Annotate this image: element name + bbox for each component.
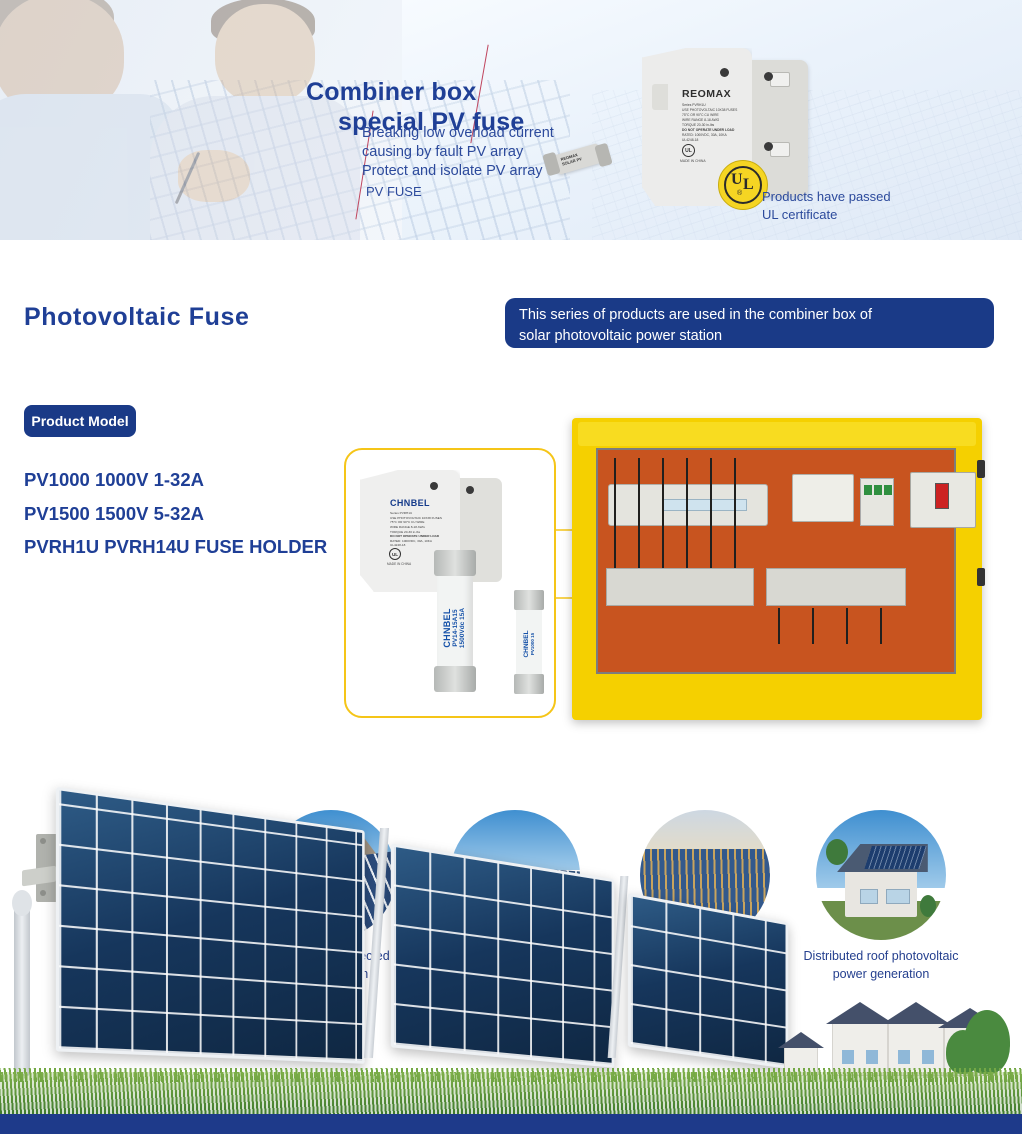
tree — [826, 839, 848, 865]
ul-certificate-badge: U L ® — [718, 160, 768, 210]
holder-origin: MADE IN CHINA — [680, 159, 706, 163]
surge-protector — [860, 478, 894, 526]
box-hinge-top — [977, 460, 985, 478]
caption-rooftop-line-1: Distributed roof photovoltaic — [796, 948, 966, 966]
nh-screw — [40, 890, 46, 896]
wind-turbine-hub — [12, 890, 32, 916]
residential-buildings — [766, 994, 996, 1076]
banner-title-line-1: Combiner box — [306, 78, 476, 106]
holder-standard: UL4248-18 — [682, 137, 748, 142]
fuse-end-cap-top — [434, 550, 476, 576]
fuse-14x51-model: PV14-15A15 — [452, 576, 459, 680]
usage-callout-line-1: This series of products are used in the … — [519, 305, 980, 326]
spd-indicator-2 — [874, 485, 882, 495]
fuse-14x51-label: CHNBEL PV14-15A15 1500Vdc 15A — [442, 576, 466, 680]
sky — [640, 810, 770, 852]
product-model-badge: Product Model — [24, 405, 136, 437]
ul-badge-ring: U L ® — [724, 166, 762, 204]
ul-text-line-2: UL certificate — [762, 206, 891, 224]
window — [866, 1050, 878, 1064]
spd-indicator-1 — [864, 485, 872, 495]
rear-terminal-top — [770, 72, 790, 87]
terminal-block-rail-right — [766, 568, 906, 606]
holder-spec-block: Series PVRH1U USE PHOTOVOLTAIC 10X38 FUS… — [682, 103, 748, 143]
building-roof — [826, 1002, 894, 1024]
output-wire — [812, 608, 814, 644]
string-wire — [734, 458, 736, 568]
banner-sub-line-2: causing by fault PV array — [362, 143, 554, 162]
ul-letter-u: U — [731, 171, 743, 189]
wind-turbine-tower — [14, 896, 30, 1076]
string-wire — [638, 458, 640, 568]
banner-sub-line-1: Breaking low overload current — [362, 124, 554, 143]
window — [842, 1050, 854, 1064]
model-item-pv1500: PV1500 1500V 5-32A — [24, 497, 327, 531]
ul-letter-l: L — [743, 176, 754, 194]
model-item-fuse-holder: PVRH1U PVRH14U FUSE HOLDER — [24, 530, 327, 564]
ul-mark-icon: UL — [682, 144, 695, 157]
holder-brand-label: REOMAX — [682, 88, 731, 100]
product-holder-origin: MADE IN CHINA — [387, 562, 411, 566]
hero-banner: Combiner box special PV fuse Breaking lo… — [0, 0, 1022, 240]
product-holder-spec-block: Series PVRH1U USE PHOTOVOLTAIC 10X38 FUS… — [390, 511, 452, 548]
terminal-screw-3 — [764, 142, 773, 151]
product-terminal-screw-2 — [466, 486, 474, 494]
engineers-photo — [0, 0, 330, 240]
din-clip — [652, 84, 668, 110]
combiner-box-backplane — [596, 448, 956, 674]
window — [860, 889, 878, 903]
breaker-switch — [935, 483, 949, 509]
product-holder-brand: CHNBEL — [390, 498, 430, 508]
window — [922, 1050, 934, 1064]
model-item-pv1000: PV1000 1000V 1-32A — [24, 463, 327, 497]
solar-array-back — [628, 893, 789, 1069]
grass-foreground — [0, 1072, 1022, 1114]
output-wire — [846, 608, 848, 644]
banner-sub-line-3: Protect and isolate PV array — [362, 162, 554, 181]
ul-certificate-text: Products have passed UL certificate — [762, 188, 891, 223]
fuse-14x51-brand: CHNBEL — [442, 608, 452, 647]
power-supply-module — [792, 474, 854, 522]
banner-sub-line-4: PV FUSE — [362, 183, 554, 200]
solar-array-middle — [391, 843, 615, 1068]
output-wire — [880, 608, 882, 644]
string-wire — [686, 458, 688, 568]
string-wire — [614, 458, 616, 568]
ul-text-line-1: Products have passed — [762, 188, 891, 206]
output-wire — [778, 608, 780, 644]
product-terminal-screw-1 — [430, 482, 438, 490]
application-image-rooftop — [816, 810, 946, 940]
string-wire — [710, 458, 712, 568]
product-ul-mark-icon: UL — [389, 548, 401, 560]
usage-callout-line-2: solar photovoltaic power station — [519, 326, 980, 347]
application-caption-rooftop: Distributed roof photovoltaic power gene… — [796, 948, 966, 983]
box-hinge-bottom — [977, 568, 985, 586]
registered-mark-icon: ® — [737, 190, 742, 197]
rear-terminal-bottom — [770, 142, 790, 157]
string-wire — [662, 458, 664, 568]
fuse-holder-rail-left — [606, 568, 754, 606]
fuse-14x51: CHNBEL PV14-15A15 1500Vdc 15A — [434, 550, 476, 692]
banner-subtitle: Breaking low overload current causing by… — [362, 124, 554, 201]
rooftop-solar-panels — [864, 846, 926, 869]
solar-array-front — [56, 787, 365, 1064]
footer-bar — [0, 1114, 1022, 1134]
nh-screw — [40, 838, 46, 844]
page-title: Photovoltaic Fuse — [24, 303, 250, 332]
terminal-screw-1 — [720, 68, 729, 77]
building-roof — [882, 1002, 950, 1024]
combiner-box-lid — [578, 422, 976, 446]
terminal-screw-2 — [764, 72, 773, 81]
banner-cylindrical-fuse: REOMAX SOLAR PV — [545, 145, 611, 173]
usage-callout-banner: This series of products are used in the … — [505, 298, 994, 348]
product-holder-standard: UL4248-18 — [390, 543, 452, 548]
window — [898, 1050, 910, 1064]
combiner-box — [572, 418, 982, 720]
caption-rooftop-line-2: power generation — [796, 966, 966, 984]
fuse-14x51-rating: 1500Vdc 15A — [459, 576, 466, 680]
monitoring-module — [608, 484, 768, 526]
window — [886, 889, 909, 903]
main-circuit-breaker — [910, 472, 976, 528]
small-house-roof — [778, 1032, 824, 1048]
product-model-list: PV1000 1000V 1-32A PV1500 1500V 5-32A PV… — [24, 463, 327, 564]
person-two-head — [215, 4, 315, 104]
spd-indicator-3 — [884, 485, 892, 495]
tree — [920, 895, 936, 917]
